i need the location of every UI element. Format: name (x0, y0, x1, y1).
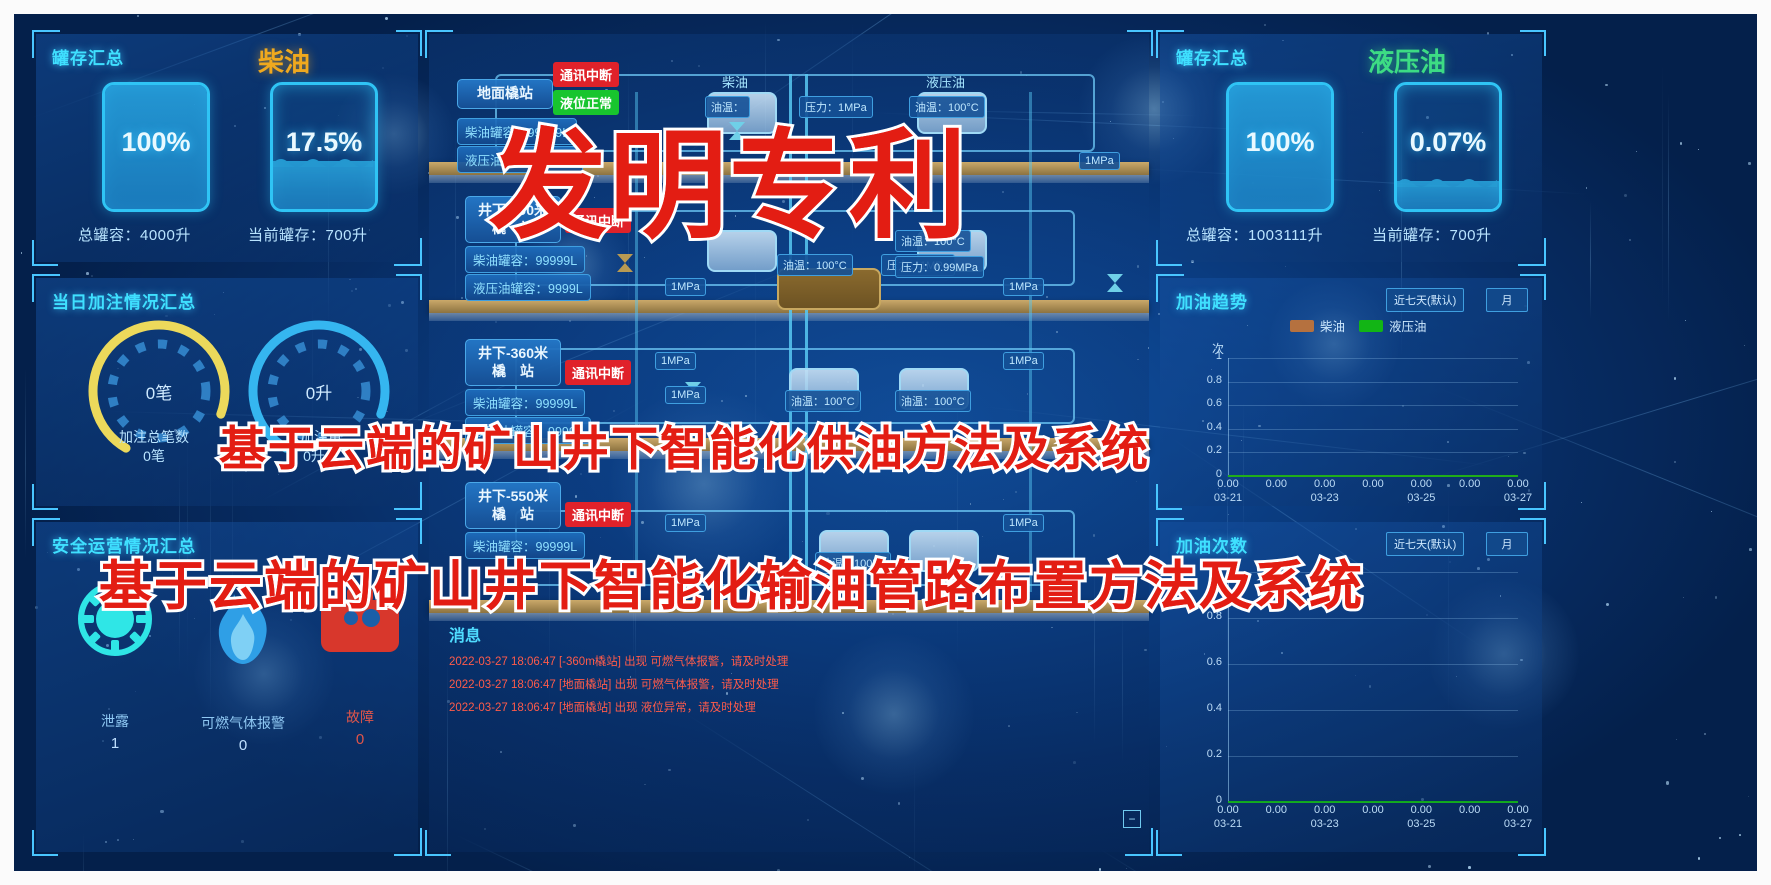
chart-gridline (1228, 452, 1518, 453)
station-name-line-1: 井下-550米 (475, 488, 551, 506)
chart-x-tick: 03-23 (1305, 492, 1345, 504)
legend-swatch (1290, 320, 1314, 332)
chart-gridline (1228, 429, 1518, 430)
safety-item-label: 可燃气体报警 (178, 713, 308, 733)
chart-y-tick: 0.4 (1194, 421, 1222, 433)
chart-gridline (1228, 382, 1518, 383)
panel-title: 加油趋势 (1176, 288, 1248, 313)
dashboard-root: 罐存汇总 柴油 100% 总罐容：4000升 17.5% 当前罐存：700升 当… (14, 14, 1757, 871)
chart-point-label: 0.00 (1405, 804, 1437, 816)
chart-point-label: 0.00 (1357, 804, 1389, 816)
station-name-line-2: 橇 站 (475, 506, 551, 524)
watermark-patent-badge-fill: 发明专利 (489, 90, 969, 261)
station-n550-status: 通讯中断 (565, 502, 631, 527)
legend-item-diesel[interactable]: 柴油 (1290, 316, 1345, 335)
pressure-tag: 1MPa (1003, 352, 1044, 370)
meter-oil-temp: 油温：100°C (895, 390, 971, 412)
legend-label: 柴油 (1320, 316, 1345, 335)
chart-legend: 柴油 液压油 (1290, 316, 1427, 335)
chart-point-label: 0.00 (1454, 478, 1486, 490)
product-name-diesel: 柴油 (258, 42, 310, 79)
chart-point-label: 0.00 (1309, 804, 1341, 816)
chart-gridline (1228, 358, 1518, 359)
pressure-tag: 1MPa (665, 278, 706, 296)
chart-plot-trend: 00.20.40.60.810.000.000.000.000.000.000.… (1228, 358, 1518, 476)
tank-gauge-total[interactable]: 100% (102, 82, 210, 212)
gauge-refuel-count-caption: 加注总笔数 0笔 (84, 428, 224, 466)
panel-right-tank-summary: 罐存汇总 液压油 100% 总罐容：1003111升 0.07% 当前罐存：70… (1160, 34, 1542, 262)
safety-item-value: 0 (178, 737, 308, 754)
station-n200-row-hydraulic: 液压油罐容：9999L (465, 274, 591, 301)
message-log: 消息 2022-03-27 18:06:47 [-360m橇站] 出现 可燃气体… (449, 622, 1129, 715)
tank-current-percent: 17.5% (273, 127, 375, 158)
chart-y-tick: 0.4 (1194, 702, 1222, 714)
valve-icon (1105, 272, 1125, 294)
station-surface-comm-status: 通讯中断 (553, 62, 619, 87)
chart-y-tick: 0.2 (1194, 748, 1222, 760)
legend-swatch (1359, 320, 1383, 332)
range-button-month[interactable]: 月 (1486, 532, 1528, 556)
tank-current-caption: 当前罐存：700升 (248, 224, 368, 245)
chart-x-tick: 03-23 (1305, 818, 1345, 830)
chart-series-line (1228, 475, 1518, 477)
chart-y-tick: 0.8 (1194, 374, 1222, 386)
chart-y-tick: 0.6 (1194, 656, 1222, 668)
tank-total-caption: 总罐容：4000升 (78, 224, 191, 245)
panel-title: 罐存汇总 (52, 44, 124, 69)
collapse-handle[interactable]: − (1123, 810, 1141, 828)
station-n550-name[interactable]: 井下-550米 橇 站 (465, 482, 561, 529)
wave-icon (1397, 175, 1497, 187)
meter-oil-temp: 油温：100°C (785, 390, 861, 412)
chart-point-label: 0.00 (1502, 478, 1534, 490)
chart-x-tick: 03-25 (1401, 492, 1441, 504)
tank-gauge-total[interactable]: 100% (1226, 82, 1334, 212)
chart-point-label: 0.00 (1260, 804, 1292, 816)
product-name-hydraulic: 液压油 (1368, 42, 1446, 79)
chart-point-label: 0.00 (1260, 478, 1292, 490)
chart-x-tick: 03-27 (1498, 818, 1538, 830)
screenshot-frame: 罐存汇总 柴油 100% 总罐容：4000升 17.5% 当前罐存：700升 当… (0, 0, 1771, 885)
chart-x-tick: 03-27 (1498, 492, 1538, 504)
legend-item-hydraulic[interactable]: 液压油 (1359, 316, 1427, 335)
chart-gridline (1228, 710, 1518, 711)
chart-y-tick: 0.6 (1194, 397, 1222, 409)
pressure-tag: 1MPa (655, 352, 696, 370)
message-log-line: 2022-03-27 18:06:47 [-360m橇站] 出现 可燃气体报警，… (449, 653, 1129, 669)
chart-point-label: 0.00 (1212, 804, 1244, 816)
message-log-line: 2022-03-27 18:06:47 [地面橇站] 出现 液位异常，请及时处理 (449, 699, 1129, 715)
tank-total-percent: 100% (105, 127, 207, 158)
chart-gridline (1228, 664, 1518, 665)
chart-y-tick: 0.2 (1194, 444, 1222, 456)
safety-item-value: 1 (60, 735, 170, 752)
chart-gridline (1228, 405, 1518, 406)
tank-current-fill (1397, 181, 1499, 209)
chart-point-label: 0.00 (1454, 804, 1486, 816)
pressure-tag: 1MPa (665, 386, 706, 404)
tank-total-percent: 100% (1229, 127, 1331, 158)
chart-point-label: 0.00 (1357, 478, 1389, 490)
tank-gauge-current[interactable]: 0.07% (1394, 82, 1502, 212)
chart-axis-y (1228, 358, 1229, 476)
caption-line-1: 加注总笔数 (84, 428, 224, 447)
message-log-title: 消息 (449, 622, 1129, 646)
legend-label: 液压油 (1389, 316, 1427, 335)
pressure-tag: 1MPa (1003, 278, 1044, 296)
chart-gridline (1228, 756, 1518, 757)
chart-point-label: 0.00 (1212, 478, 1244, 490)
message-log-line: 2022-03-27 18:06:47 [地面橇站] 出现 可燃气体报警，请及时… (449, 676, 1129, 692)
pressure-tag: 1MPa (665, 514, 706, 532)
chart-x-tick: 03-21 (1208, 818, 1248, 830)
chart-x-tick: 03-25 (1401, 818, 1441, 830)
safety-item-value: 0 (312, 731, 408, 748)
pressure-tag: 1MPa (1079, 152, 1120, 170)
chart-y-tick: 1 (1194, 350, 1222, 362)
chart-point-label: 0.00 (1405, 478, 1437, 490)
chart-point-label: 0.00 (1309, 478, 1341, 490)
chart-x-tick: 03-21 (1208, 492, 1248, 504)
station-n360-status: 通讯中断 (565, 360, 631, 385)
tank-current-caption: 当前罐存：700升 (1372, 224, 1492, 245)
panel-refuel-trend: 加油趋势 近七天(默认) 月 柴油 液压油 次 00.20.40.60.810.… (1160, 278, 1542, 506)
safety-item-label: 故障 (312, 707, 408, 727)
station-name-line-1: 井下-360米 (475, 345, 551, 363)
range-button-seven-days[interactable]: 近七天(默认) (1386, 288, 1464, 312)
range-button-seven-days[interactable]: 近七天(默认) (1386, 532, 1464, 556)
tank-current-percent: 0.07% (1397, 127, 1499, 158)
range-button-month[interactable]: 月 (1486, 288, 1528, 312)
tank-gauge-current[interactable]: 17.5% (270, 82, 378, 212)
panel-left-tank-summary: 罐存汇总 柴油 100% 总罐容：4000升 17.5% 当前罐存：700升 (36, 34, 418, 262)
watermark-line-2-fill: 基于云端的矿山井下智能化输油管路布置方法及系统 (99, 544, 1364, 620)
chart-point-label: 0.00 (1502, 804, 1534, 816)
station-n360-name[interactable]: 井下-360米 橇 站 (465, 339, 561, 386)
pressure-tag: 1MPa (1003, 514, 1044, 532)
tank-total-caption: 总罐容：1003111升 (1186, 224, 1323, 245)
watermark-line-1-fill: 基于云端的矿山井下智能化供油方法及系统 (219, 410, 1150, 479)
safety-item-label: 泄露 (60, 711, 170, 731)
station-name-line-2: 橇 站 (475, 363, 551, 381)
panel-title: 罐存汇总 (1176, 44, 1248, 69)
panel-title: 当日加注情况汇总 (52, 288, 196, 313)
chart-series-line (1228, 801, 1518, 803)
tank-current-fill (273, 161, 375, 209)
caption-line-2: 0笔 (84, 447, 224, 466)
